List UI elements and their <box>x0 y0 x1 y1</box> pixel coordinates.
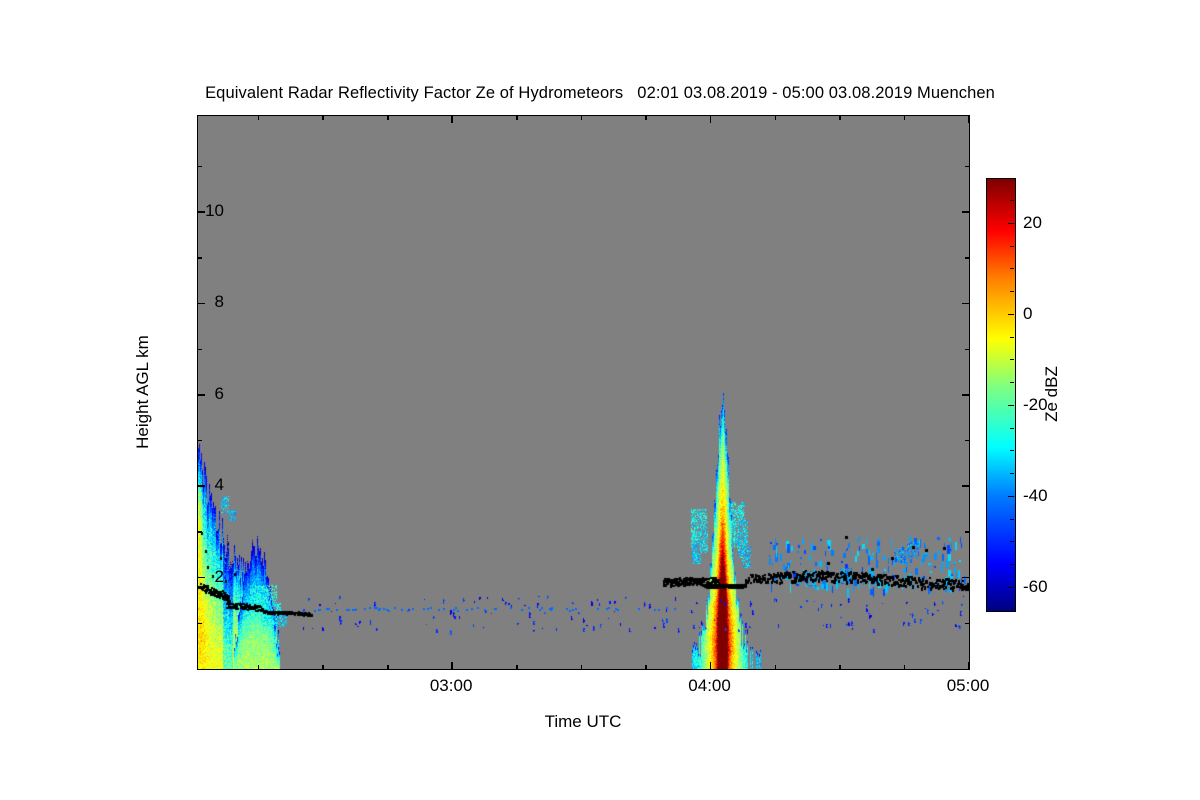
x-axis-label: Time UTC <box>545 712 622 732</box>
x-tick-minor-top <box>516 116 518 120</box>
x-tick-minor <box>645 665 647 669</box>
x-tick-minor-top <box>839 116 841 120</box>
colorbar-tick-label: 20 <box>1023 213 1042 233</box>
x-tick-minor <box>839 665 841 669</box>
x-tick-minor-top <box>387 116 389 120</box>
colorbar-tick-minor <box>1010 473 1014 474</box>
y-tick-label: 10 <box>205 201 224 221</box>
colorbar-tick-minor <box>1010 291 1014 292</box>
x-tick-minor <box>581 665 583 669</box>
y-tick-minor <box>198 531 202 533</box>
y-tick-label: 4 <box>215 475 224 495</box>
x-tick-label: 04:00 <box>688 676 731 696</box>
x-tick-minor <box>516 665 518 669</box>
x-tick-label: 05:00 <box>947 676 990 696</box>
y-tick-major <box>198 394 205 396</box>
colorbar-tick-minor <box>1010 450 1014 451</box>
colorbar-tick <box>1008 405 1014 407</box>
x-tick-minor <box>904 665 906 669</box>
y-tick-minor <box>198 623 202 625</box>
x-tick-minor-top <box>322 116 324 120</box>
colorbar-tick <box>1008 496 1014 498</box>
heatmap-canvas-wrap <box>198 116 969 669</box>
y-tick-minor-right <box>965 349 969 351</box>
x-tick-minor-top <box>645 116 647 120</box>
colorbar-tick <box>1008 223 1014 225</box>
x-tick-minor <box>775 665 777 669</box>
y-tick-minor-right <box>965 531 969 533</box>
y-tick-label: 2 <box>215 567 224 587</box>
colorbar-tick-minor <box>1010 541 1014 542</box>
y-tick-label: 6 <box>215 384 224 404</box>
colorbar-tick <box>1008 314 1014 316</box>
colorbar-tick-label: -40 <box>1023 486 1048 506</box>
y-tick-minor-right <box>965 623 969 625</box>
colorbar-tick-minor <box>1010 519 1014 520</box>
colorbar-tick <box>1008 587 1014 589</box>
colorbar-tick-minor <box>1010 337 1014 338</box>
y-tick-major-right <box>962 211 969 213</box>
x-tick-major-top <box>968 116 970 123</box>
x-tick-label: 03:00 <box>430 676 473 696</box>
radar-reflectivity-figure: Equivalent Radar Reflectivity Factor Ze … <box>0 0 1200 800</box>
colorbar-label: Ze dBZ <box>1042 366 1062 422</box>
plot-axes <box>197 115 970 670</box>
x-tick-minor <box>322 665 324 669</box>
y-tick-major-right <box>962 303 969 305</box>
x-tick-major <box>968 662 970 669</box>
x-tick-minor <box>387 665 389 669</box>
reflectivity-heatmap <box>198 116 969 669</box>
x-tick-major <box>710 662 712 669</box>
colorbar-tick-label: -60 <box>1023 577 1048 597</box>
y-tick-minor <box>198 166 202 168</box>
x-tick-minor <box>258 665 260 669</box>
colorbar-tick-minor <box>1010 200 1014 201</box>
colorbar-tick-minor <box>1010 359 1014 360</box>
x-tick-minor-top <box>775 116 777 120</box>
x-tick-major-top <box>451 116 453 123</box>
colorbar-tick-minor <box>1010 246 1014 247</box>
y-tick-major <box>198 303 205 305</box>
colorbar-tick-minor <box>1010 564 1014 565</box>
y-tick-minor-right <box>965 166 969 168</box>
colorbar-tick-minor <box>1010 268 1014 269</box>
y-tick-major-right <box>962 485 969 487</box>
y-tick-minor-right <box>965 440 969 442</box>
colorbar <box>986 178 1016 612</box>
y-axis-label: Height AGL km <box>133 335 153 449</box>
page-title: Equivalent Radar Reflectivity Factor Ze … <box>0 84 1200 103</box>
y-tick-major <box>198 577 205 579</box>
y-tick-minor-right <box>965 257 969 259</box>
x-tick-minor-top <box>258 116 260 120</box>
x-tick-minor-top <box>904 116 906 120</box>
y-tick-minor <box>198 257 202 259</box>
y-tick-minor <box>198 349 202 351</box>
colorbar-tick-minor <box>1010 428 1014 429</box>
colorbar-tick-label: 0 <box>1023 304 1032 324</box>
y-tick-major-right <box>962 577 969 579</box>
y-tick-major <box>198 485 205 487</box>
y-tick-label: 8 <box>215 292 224 312</box>
y-tick-major-right <box>962 394 969 396</box>
y-tick-minor <box>198 440 202 442</box>
x-tick-major-top <box>710 116 712 123</box>
colorbar-tick-minor <box>1010 382 1014 383</box>
x-tick-minor-top <box>581 116 583 120</box>
x-tick-major <box>451 662 453 669</box>
y-tick-major <box>198 211 205 213</box>
